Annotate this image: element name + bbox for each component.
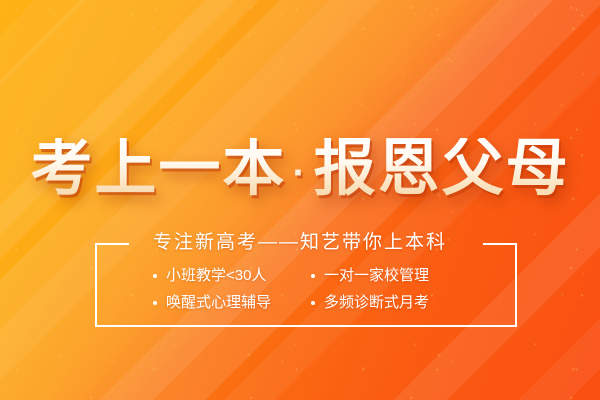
content-frame-top-right-stub <box>483 243 517 245</box>
feature-item: 一对一家校管理 <box>311 264 459 288</box>
feature-item: 多频诊断式月考 <box>311 291 459 315</box>
headline-left-text: 考上一本 <box>30 134 286 203</box>
promo-banner: 考上一本·报恩父母 专注新高考——知艺带你上本科 小班教学<30人 一对一家校管… <box>0 0 600 400</box>
headline-right-text: 报恩父母 <box>314 134 570 203</box>
bullet-dot-icon <box>153 301 157 305</box>
headline-separator-dot: · <box>286 151 313 195</box>
bullet-dot-icon <box>311 274 315 278</box>
feature-label: 小班教学<30人 <box>166 264 266 288</box>
feature-item: 唤醒式心理辅导 <box>153 291 301 315</box>
feature-label: 多频诊断式月考 <box>324 291 429 315</box>
headline: 考上一本·报恩父母 <box>0 138 600 200</box>
feature-label: 唤醒式心理辅导 <box>166 291 271 315</box>
bullet-dot-icon <box>153 274 157 278</box>
feature-label: 一对一家校管理 <box>324 264 429 288</box>
content-frame-top-left-stub <box>95 243 129 245</box>
bullet-dot-icon <box>311 301 315 305</box>
feature-item: 小班教学<30人 <box>153 264 301 288</box>
feature-list: 小班教学<30人 一对一家校管理 唤醒式心理辅导 多频诊断式月考 <box>95 264 517 315</box>
